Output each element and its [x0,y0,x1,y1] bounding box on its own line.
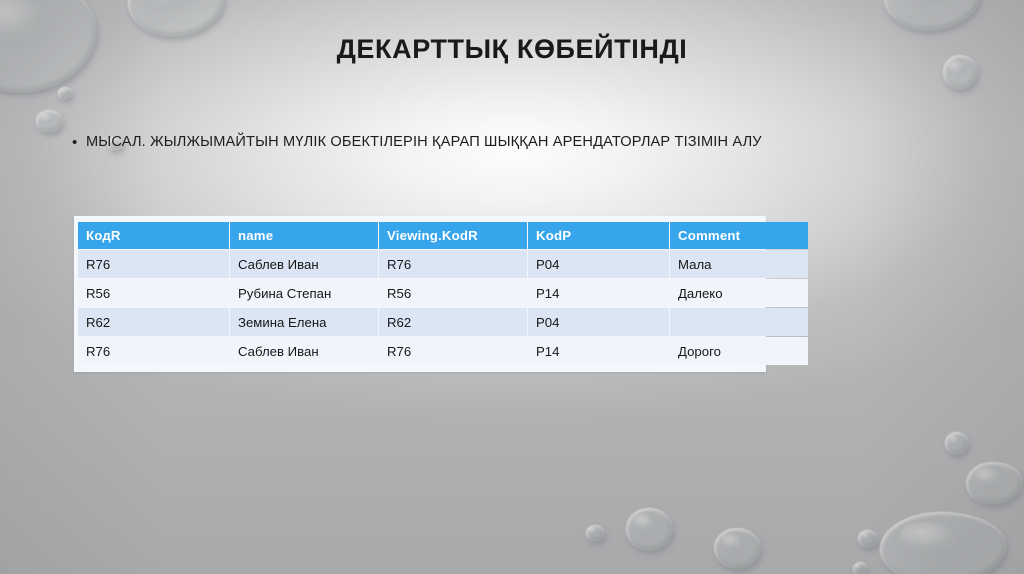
cell-comment [670,308,808,336]
cell-kodr: R76 [78,250,229,278]
droplet-icon [626,508,672,550]
bullet-item-text: МЫСАЛ. ЖЫЛЖЫМАЙТЫН МҮЛІК ОБЕКТІЛЕРІН ҚАР… [86,128,952,157]
droplet-icon [853,562,867,574]
cell-kodr: R56 [78,279,229,307]
cell-comment: Далеко [670,279,808,307]
droplet-icon [128,0,224,36]
cell-name: Саблев Иван [230,337,378,365]
table-row: R56 Рубина Степан R56 P14 Далеко [78,279,808,307]
column-header-kodp: KodP [528,222,669,249]
cell-viewing-kodr: R76 [379,337,527,365]
droplet-icon [966,462,1022,504]
droplet-icon [58,87,72,99]
cell-kodp: P04 [528,308,669,336]
data-table: КодR name Viewing.KodR KodP Comment R76 … [77,221,809,366]
droplet-icon [945,432,968,454]
column-header-kodr: КодR [78,222,229,249]
table-row: R62 Земина Елена R62 P04 [78,308,808,336]
column-header-name: name [230,222,378,249]
cell-viewing-kodr: R56 [379,279,527,307]
cell-kodr: R62 [78,308,229,336]
cell-name: Земина Елена [230,308,378,336]
droplet-icon [880,512,1006,574]
cell-name: Саблев Иван [230,250,378,278]
droplet-icon [858,530,877,547]
table-row: R76 Саблев Иван R76 P04 Мала [78,250,808,278]
droplet-icon [36,110,62,132]
droplet-icon [884,0,980,30]
cell-kodr: R76 [78,337,229,365]
table-body: R76 Саблев Иван R76 P04 Мала R56 Рубина … [78,250,808,365]
table-header-row: КодR name Viewing.KodR KodP Comment [78,222,808,249]
cell-kodp: P14 [528,337,669,365]
cell-comment: Дорого [670,337,808,365]
bullet-list: • МЫСАЛ. ЖЫЛЖЫМАЙТЫН МҮЛІК ОБЕКТІЛЕРІН Қ… [72,128,952,157]
table-header: КодR name Viewing.KodR KodP Comment [78,222,808,249]
cell-comment: Мала [670,250,808,278]
droplet-icon [586,525,604,541]
presentation-slide: ДЕКАРТТЫҚ КӨБЕЙТІНДІ • МЫСАЛ. ЖЫЛЖЫМАЙТЫ… [0,0,1024,574]
cell-kodp: P04 [528,250,669,278]
table-row: R76 Саблев Иван R76 P14 Дорого [78,337,808,365]
cell-name: Рубина Степан [230,279,378,307]
bullet-list-item: • МЫСАЛ. ЖЫЛЖЫМАЙТЫН МҮЛІК ОБЕКТІЛЕРІН Қ… [72,128,952,157]
cell-viewing-kodr: R76 [379,250,527,278]
cell-viewing-kodr: R62 [379,308,527,336]
slide-title: ДЕКАРТТЫҚ КӨБЕЙТІНДІ [60,32,964,66]
bullet-marker-icon: • [72,128,86,157]
cell-kodp: P14 [528,279,669,307]
column-header-comment: Comment [670,222,808,249]
column-header-viewing-kodr: Viewing.KodR [379,222,527,249]
data-table-container: КодR name Viewing.KodR KodP Comment R76 … [74,216,766,372]
droplet-icon [714,528,760,568]
